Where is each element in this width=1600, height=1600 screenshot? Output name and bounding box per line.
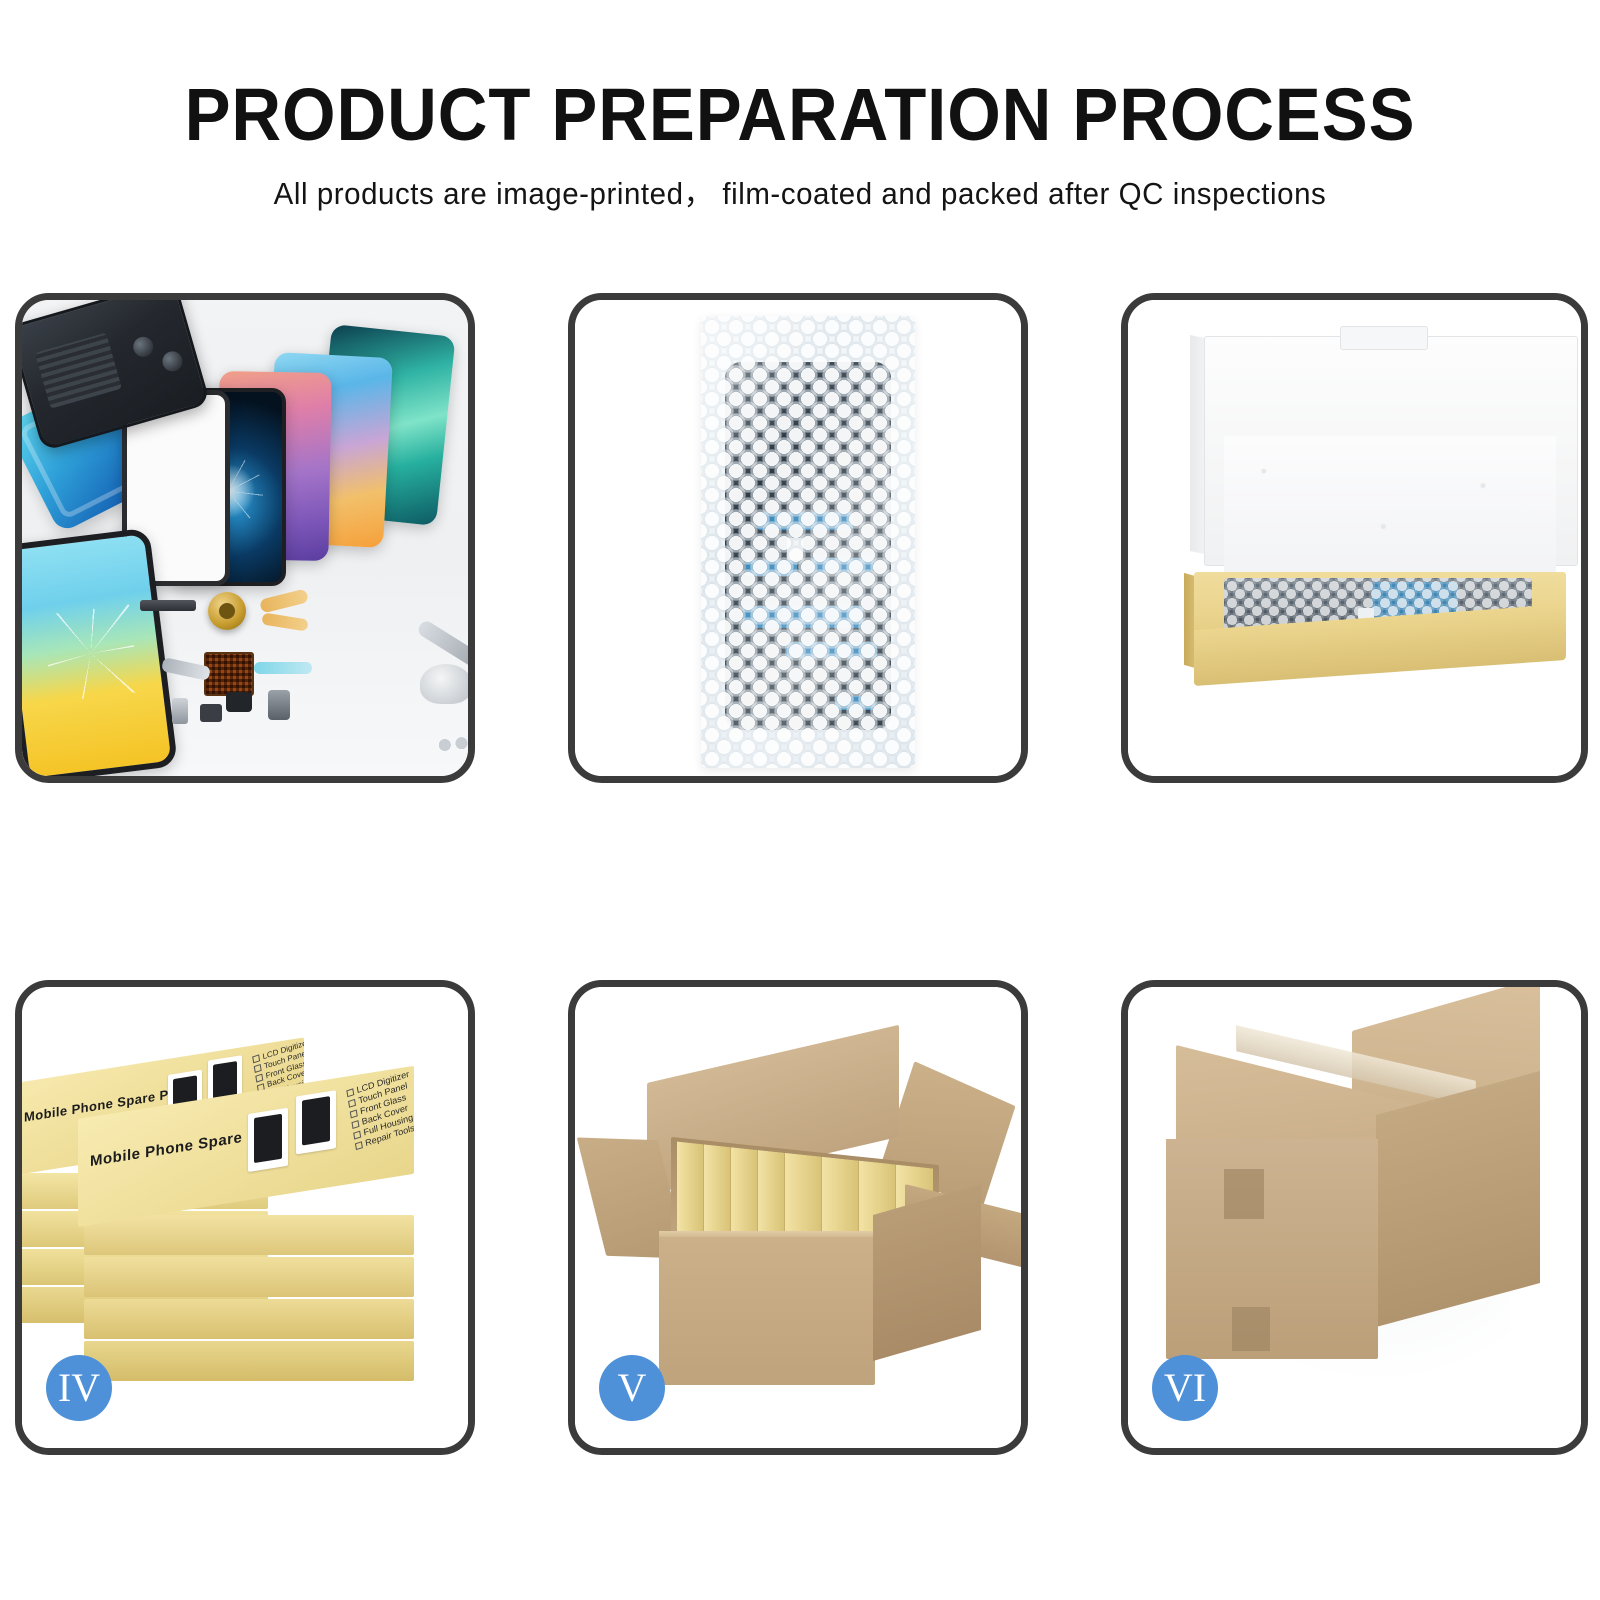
- ic-chip-part: [204, 652, 254, 696]
- sim-tray-part: [172, 698, 188, 724]
- process-step-panel-6[interactable]: VI: [1121, 980, 1588, 1455]
- process-step-panel-2[interactable]: II: [568, 293, 1028, 783]
- carton-front-face: [1166, 1139, 1378, 1359]
- process-step-panel-4[interactable]: Mobile Phone Spare Parts LCD Digitizer T…: [15, 980, 475, 1455]
- retail-box-photo-front-2: [296, 1090, 336, 1154]
- carton-side-face: [873, 1184, 981, 1361]
- loudspeaker-part: [268, 690, 290, 720]
- front-stack-box-4: [84, 1341, 414, 1381]
- front-stack-box-3: [84, 1299, 414, 1339]
- wireless-charging-coil-part: [208, 592, 246, 630]
- panel-3-scene: [1128, 300, 1581, 776]
- button-module-part: [200, 704, 222, 722]
- screws-part: [436, 736, 468, 754]
- cleaning-brush-part: [420, 664, 468, 704]
- bubble-wrap-bag: [701, 316, 915, 768]
- carton-side-face: [1376, 1071, 1540, 1327]
- process-step-grid: I II: [0, 0, 1600, 1600]
- panel-1-scene: [22, 300, 468, 776]
- plastic-sheen-layer: [701, 316, 915, 768]
- process-step-panel-3[interactable]: III: [1121, 293, 1588, 783]
- front-stack-box-1: [84, 1215, 414, 1255]
- retail-box-photo-front-1: [248, 1108, 288, 1172]
- process-step-panel-1[interactable]: I: [15, 293, 475, 783]
- flex-cable-part-3: [254, 662, 312, 674]
- step-badge-5: V: [599, 1355, 665, 1421]
- step-badge-6: VI: [1152, 1355, 1218, 1421]
- retail-box-checklist-front: LCD Digitizer Touch Panel Front Glass Ba…: [346, 1069, 414, 1152]
- step-badge-4: IV: [46, 1355, 112, 1421]
- panel-2-scene: [575, 300, 1021, 776]
- carton-tab-lower: [1232, 1307, 1270, 1351]
- camera-lens-icon-1: [131, 334, 156, 359]
- carton-tab-upper: [1224, 1169, 1264, 1219]
- process-step-panel-5[interactable]: V: [568, 980, 1028, 1455]
- camera-lens-icon-2: [160, 349, 185, 374]
- front-stack-box-2: [84, 1257, 414, 1297]
- box-lid-tab: [1340, 326, 1428, 350]
- earpiece-speaker-part: [140, 600, 196, 611]
- battery-strip: [35, 333, 122, 409]
- carton-front-face: [659, 1237, 875, 1385]
- foam-liner: [1224, 436, 1556, 582]
- camera-module-part: [226, 692, 252, 712]
